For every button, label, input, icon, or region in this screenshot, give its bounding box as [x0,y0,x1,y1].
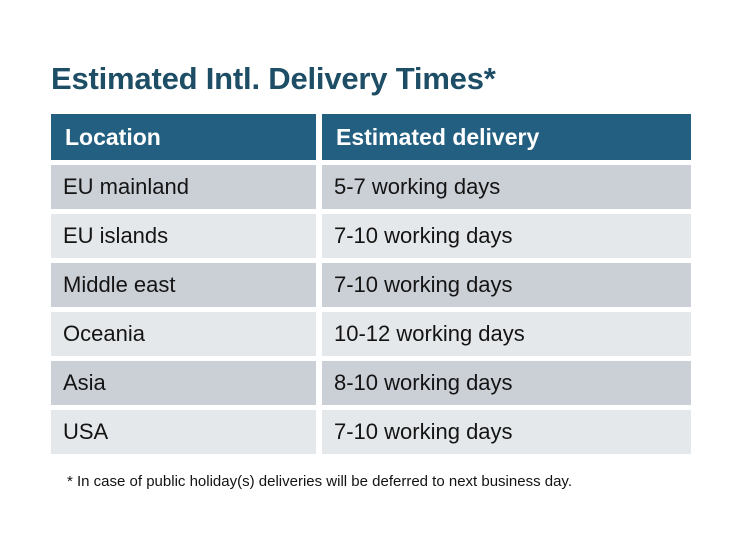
cell-estimated-delivery: 8-10 working days [322,361,691,405]
table-row: USA 7-10 working days [51,410,691,454]
table-row: EU islands 7-10 working days [51,214,691,258]
table-row: Oceania 10-12 working days [51,312,691,356]
cell-location: EU mainland [51,165,316,209]
table-row: EU mainland 5-7 working days [51,165,691,209]
table-header-row: Location Estimated delivery [51,114,691,160]
cell-location: Middle east [51,263,316,307]
cell-estimated-delivery: 7-10 working days [322,410,691,454]
cell-location: Asia [51,361,316,405]
column-header-estimated-delivery: Estimated delivery [322,114,691,160]
cell-estimated-delivery: 5-7 working days [322,165,691,209]
footnote-text: * In case of public holiday(s) deliverie… [67,472,572,492]
delivery-times-page: Estimated Intl. Delivery Times* Location… [0,0,745,536]
cell-estimated-delivery: 10-12 working days [322,312,691,356]
cell-estimated-delivery: 7-10 working days [322,214,691,258]
cell-location: USA [51,410,316,454]
table-row: Middle east 7-10 working days [51,263,691,307]
table-row: Asia 8-10 working days [51,361,691,405]
column-header-location: Location [51,114,316,160]
page-title: Estimated Intl. Delivery Times* [51,59,496,99]
estimated-delivery-times-table: Location Estimated delivery EU mainland … [51,114,691,454]
cell-location: EU islands [51,214,316,258]
cell-estimated-delivery: 7-10 working days [322,263,691,307]
cell-location: Oceania [51,312,316,356]
